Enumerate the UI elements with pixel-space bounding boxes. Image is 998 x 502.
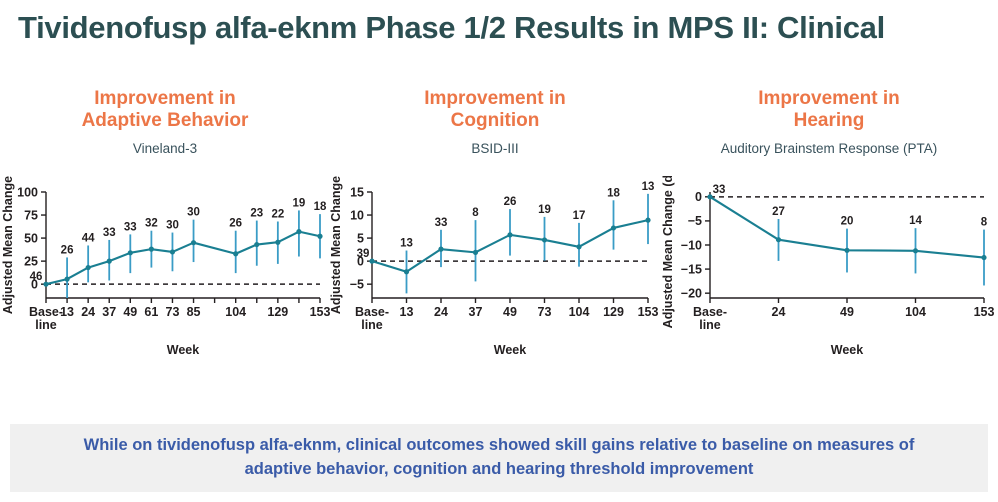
svg-text:Week: Week — [831, 343, 863, 357]
svg-text:153: 153 — [638, 305, 659, 319]
svg-text:33: 33 — [103, 227, 116, 239]
svg-text:18: 18 — [314, 201, 327, 213]
svg-text:153: 153 — [310, 305, 330, 319]
svg-text:129: 129 — [603, 305, 624, 319]
svg-text:Base-line: Base-line — [355, 305, 389, 332]
svg-text:17: 17 — [573, 210, 586, 222]
charts-row: Improvement in Adaptive Behavior Vinelan… — [0, 88, 998, 373]
panel-hearing: Improvement in Hearing Auditory Brainste… — [660, 88, 998, 373]
panel-adaptive-behavior: Improvement in Adaptive Behavior Vinelan… — [0, 88, 330, 373]
svg-text:26: 26 — [229, 218, 242, 230]
slide-root: Tividenofusp alfa-eknm Phase 1/2 Results… — [0, 0, 998, 502]
svg-text:−20: −20 — [681, 286, 702, 300]
svg-text:30: 30 — [187, 207, 200, 219]
panel-title-hearing-line2: Hearing — [794, 110, 865, 131]
panel-title-adaptive-line1: Improvement in — [94, 88, 235, 109]
svg-text:19: 19 — [538, 204, 551, 216]
svg-text:Base-line: Base-line — [29, 305, 63, 332]
svg-text:32: 32 — [145, 218, 158, 230]
summary-banner-text: While on tividenofusp alfa-eknm, clinica… — [49, 434, 949, 482]
summary-line-1: While on tividenofusp alfa-eknm, clinica… — [84, 436, 813, 454]
page-title: Tividenofusp alfa-eknm Phase 1/2 Results… — [18, 10, 978, 46]
panel-title-hearing-line1: Improvement in — [758, 88, 899, 109]
chart-adaptive-svg: 0255075100Adjusted Mean ChangeBase-line1… — [0, 176, 330, 366]
svg-text:104: 104 — [569, 305, 590, 319]
svg-text:13: 13 — [400, 238, 413, 250]
svg-text:13: 13 — [400, 305, 414, 319]
summary-banner: While on tividenofusp alfa-eknm, clinica… — [10, 424, 988, 492]
svg-text:22: 22 — [271, 208, 284, 220]
svg-text:44: 44 — [82, 232, 95, 244]
svg-text:104: 104 — [905, 305, 926, 319]
panel-title-adaptive-line2: Adaptive Behavior — [82, 110, 249, 131]
svg-text:8: 8 — [472, 207, 479, 219]
svg-text:−5: −5 — [350, 277, 364, 291]
svg-text:15: 15 — [350, 185, 364, 199]
svg-text:Adjusted Mean Change: Adjusted Mean Change — [1, 176, 15, 314]
svg-text:39: 39 — [357, 248, 370, 260]
svg-text:73: 73 — [538, 305, 552, 319]
svg-text:33: 33 — [124, 221, 137, 233]
chart-hearing: 0−5−10−15−20Adjusted Mean Change (dB)Bas… — [660, 176, 998, 366]
svg-text:49: 49 — [503, 305, 517, 319]
svg-text:26: 26 — [504, 196, 517, 208]
svg-text:75: 75 — [24, 208, 38, 222]
chart-adaptive-behavior: 0255075100Adjusted Mean ChangeBase-line1… — [0, 176, 330, 366]
svg-text:46: 46 — [30, 271, 43, 283]
panel-title-cognition-line2: Cognition — [451, 110, 540, 131]
svg-text:61: 61 — [144, 305, 158, 319]
svg-text:19: 19 — [293, 197, 306, 209]
svg-text:37: 37 — [102, 305, 116, 319]
svg-text:25: 25 — [24, 254, 38, 268]
svg-text:20: 20 — [841, 216, 854, 228]
svg-text:27: 27 — [772, 206, 785, 218]
chart-cognition-svg: −5051015Adjusted Mean ChangeBase-line132… — [330, 176, 660, 366]
svg-text:73: 73 — [166, 305, 180, 319]
svg-text:50: 50 — [24, 231, 38, 245]
svg-text:14: 14 — [909, 215, 922, 227]
svg-text:129: 129 — [267, 305, 288, 319]
panel-subtitle-hearing: Auditory Brainstem Response (PTA) — [660, 141, 998, 156]
svg-text:−5: −5 — [688, 214, 702, 228]
svg-text:100: 100 — [17, 185, 38, 199]
svg-text:13: 13 — [60, 305, 74, 319]
svg-text:−10: −10 — [681, 238, 702, 252]
svg-text:33: 33 — [435, 217, 448, 229]
svg-text:10: 10 — [350, 208, 364, 222]
svg-text:104: 104 — [225, 305, 246, 319]
svg-text:23: 23 — [250, 208, 263, 220]
svg-text:13: 13 — [642, 181, 655, 193]
panel-title-adaptive: Improvement in Adaptive Behavior — [0, 88, 330, 133]
svg-text:0: 0 — [695, 190, 702, 204]
svg-text:Adjusted Mean Change: Adjusted Mean Change — [330, 176, 343, 314]
panel-title-hearing: Improvement in Hearing — [660, 88, 998, 133]
svg-text:5: 5 — [357, 231, 364, 245]
svg-text:30: 30 — [166, 220, 179, 232]
svg-text:26: 26 — [61, 244, 74, 256]
chart-cognition: −5051015Adjusted Mean ChangeBase-line132… — [330, 176, 660, 366]
svg-text:49: 49 — [840, 305, 854, 319]
svg-text:24: 24 — [772, 305, 786, 319]
svg-text:−15: −15 — [681, 262, 702, 276]
svg-text:Week: Week — [167, 343, 199, 357]
svg-text:49: 49 — [123, 305, 137, 319]
svg-text:153: 153 — [974, 305, 995, 319]
svg-text:24: 24 — [434, 305, 448, 319]
panel-cognition: Improvement in Cognition BSID-III −50510… — [330, 88, 660, 373]
svg-text:Base-line: Base-line — [693, 305, 727, 332]
svg-text:Adjusted Mean Change (dB): Adjusted Mean Change (dB) — [661, 176, 675, 328]
svg-text:8: 8 — [981, 217, 988, 229]
panel-subtitle-adaptive: Vineland-3 — [0, 141, 330, 156]
panel-subtitle-cognition: BSID-III — [330, 141, 660, 156]
chart-hearing-svg: 0−5−10−15−20Adjusted Mean Change (dB)Bas… — [660, 176, 998, 366]
svg-text:18: 18 — [607, 187, 620, 199]
svg-text:33: 33 — [713, 184, 726, 196]
panel-title-cognition: Improvement in Cognition — [330, 88, 660, 133]
panel-title-cognition-line1: Improvement in — [424, 88, 565, 109]
svg-text:85: 85 — [187, 305, 201, 319]
svg-text:Week: Week — [494, 343, 526, 357]
svg-text:37: 37 — [469, 305, 483, 319]
svg-text:24: 24 — [81, 305, 95, 319]
